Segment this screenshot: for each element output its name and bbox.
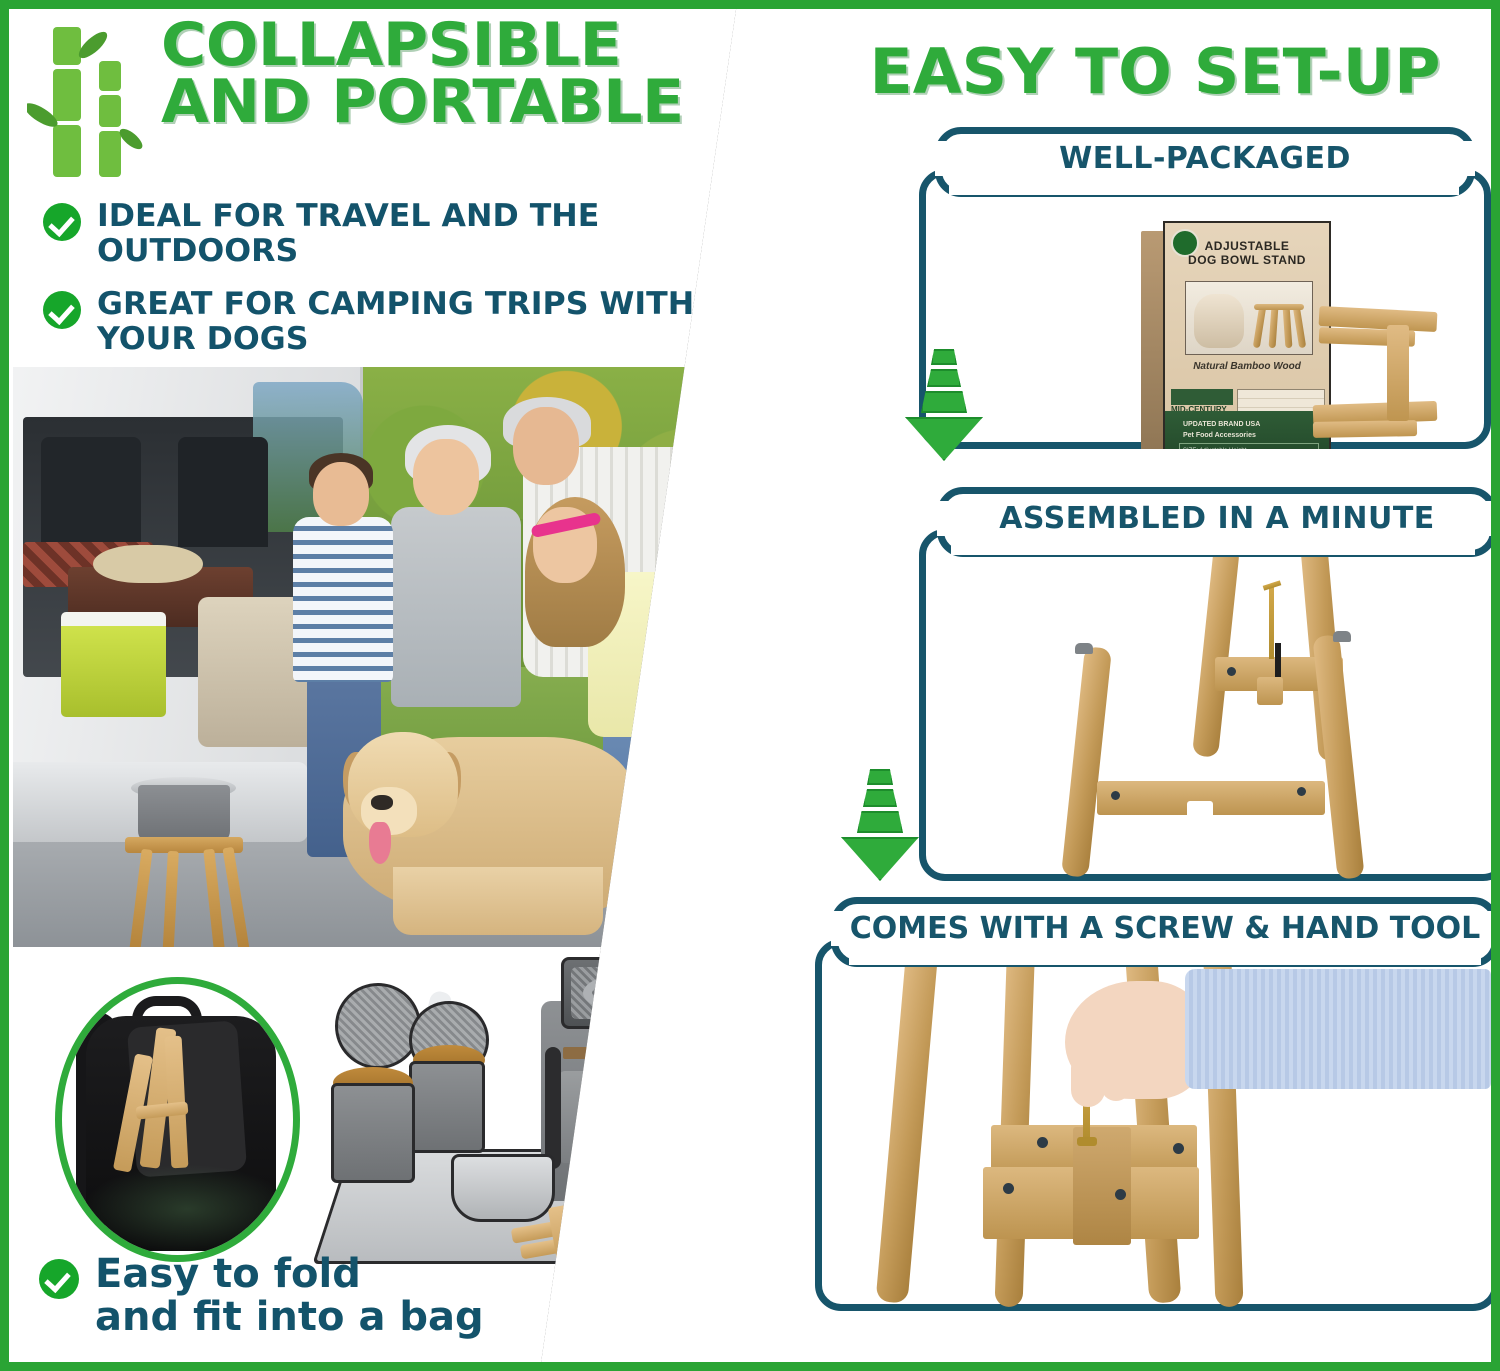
- package-spine: [1141, 231, 1165, 449]
- feature-bullet: IDEAL FOR TRAVEL AND THE OUTDOORS: [43, 199, 773, 269]
- check-circle-icon: [39, 1259, 79, 1299]
- product-collage: [13, 939, 753, 1269]
- arrow-down-icon: [841, 769, 919, 881]
- package-brand-block: UPDATED BRAND USA Pet Food Accessories: [1183, 420, 1313, 441]
- feature-bullet-label: GREAT FOR CAMPING TRIPS WITH YOUR DOGS: [97, 287, 787, 357]
- step-3-label: COMES WITH A SCREW & HAND TOOL: [831, 911, 1491, 946]
- package-title-line2: DOG BOWL STAND: [1165, 253, 1329, 267]
- infographic-page: COLLAPSIBLE AND PORTABLE IDEAL FOR TRAVE…: [0, 0, 1500, 1371]
- fold-caption: Easy to fold and fit into a bag: [39, 1253, 659, 1339]
- package-subtitle: Natural Bamboo Wood: [1165, 361, 1329, 372]
- feature-bullet-list: IDEAL FOR TRAVEL AND THE OUTDOORS GREAT …: [43, 199, 773, 375]
- page-title: COLLAPSIBLE AND PORTABLE: [161, 17, 779, 131]
- screw-head-icon: [1077, 1137, 1097, 1146]
- product-package-box: ADJUSTABLE DOG BOWL STAND Natural Bamboo…: [1141, 221, 1331, 449]
- page-title-line2: AND PORTABLE: [161, 74, 779, 131]
- bamboo-icon: [27, 23, 145, 183]
- step-2-image: [919, 529, 1491, 881]
- package-brand-line2: Pet Food Accessories: [1183, 431, 1313, 442]
- sweater-sleeve: [1185, 969, 1491, 1089]
- feature-bullet: GREAT FOR CAMPING TRIPS WITH YOUR DOGS: [43, 287, 773, 357]
- step-2-label: ASSEMBLED IN A MINUTE: [937, 501, 1491, 536]
- screw-icon: [1275, 643, 1281, 677]
- check-circle-icon: [43, 203, 81, 241]
- travel-bag-set: [313, 949, 753, 1269]
- allen-key-icon: [1269, 585, 1274, 659]
- fold-caption-line1: Easy to fold: [95, 1251, 361, 1297]
- step-3-image: [815, 939, 1491, 1311]
- left-panel: COLLAPSIBLE AND PORTABLE IDEAL FOR TRAVE…: [9, 9, 799, 1362]
- step-1-label: WELL-PACKAGED: [935, 141, 1475, 176]
- fold-caption-line2: and fit into a bag: [95, 1294, 484, 1340]
- package-footer-line1: SIZE: Adjustable Height: [1183, 447, 1315, 449]
- arrow-down-icon: [905, 349, 983, 461]
- package-footer-specs: SIZE: Adjustable Height MODEL: Type A: [1179, 443, 1319, 449]
- backpack-closeup: [55, 977, 300, 1262]
- package-hero-image: [1185, 281, 1313, 355]
- package-brand-line1: UPDATED BRAND USA: [1183, 420, 1313, 431]
- step-1-image: ADJUSTABLE DOG BOWL STAND Natural Bamboo…: [919, 169, 1491, 449]
- right-panel-title: EASY TO SET-UP: [812, 35, 1491, 108]
- fold-caption-text: Easy to fold and fit into a bag: [95, 1253, 484, 1339]
- check-circle-icon: [43, 291, 81, 329]
- package-title-line1: ADJUSTABLE: [1165, 239, 1329, 253]
- hero-photo-family-camping: [13, 367, 749, 947]
- right-panel: EASY TO SET-UP WELL-PACKAGED ADJUSTABLE …: [809, 9, 1491, 1362]
- feature-bullet-label: IDEAL FOR TRAVEL AND THE OUTDOORS: [97, 199, 787, 269]
